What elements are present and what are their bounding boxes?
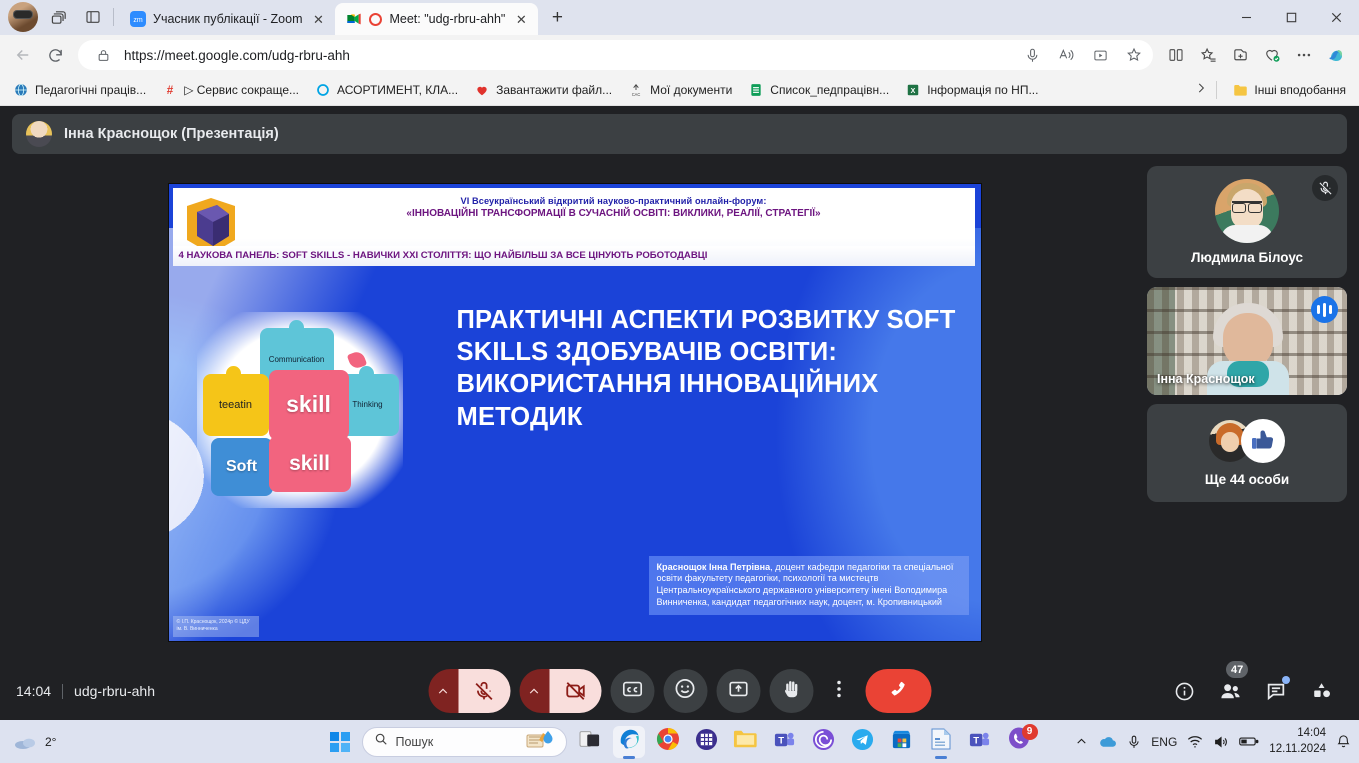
participants-rail: Людмила Білоус [1147,164,1347,660]
other-favorites-label: Інші вподобання [1254,83,1346,97]
onedrive-icon[interactable] [1098,735,1117,749]
center-controls [428,669,931,713]
panel-line-3: 4 НАУКОВА ПАНЕЛЬ: SOFT SKILLS - НАВИЧКИ … [173,250,708,261]
meeting-info: 14:04 udg-rbru-ahh [16,683,155,699]
chrome-icon [656,727,680,756]
bookmark-label: Інформація по НП... [927,83,1038,97]
profile-avatar[interactable] [8,2,38,32]
more-vertical-icon [837,679,842,704]
bell-icon[interactable] [1336,734,1351,749]
slide-title: ПРАКТИЧНІ АСПЕКТИ РОЗВИТКУ SOFT SKILLS З… [457,304,961,434]
bookmark-label: Педагогічні праців... [35,83,146,97]
presentation-slide: VI Всеукраїнський відкритий науково-прак… [169,184,981,641]
avatar [1215,179,1279,243]
svg-text:CAC: CAC [632,92,641,97]
google-meet-app: Інна Краснощок (Презентація) [0,106,1359,720]
present-button[interactable] [716,669,760,713]
reactions-button[interactable] [663,669,707,713]
bookmark-item[interactable]: Завантажити файл... [467,79,619,101]
collections-icon[interactable] [1225,40,1255,70]
more-participants-tile[interactable]: Ще 44 особи [1147,404,1347,502]
puzzle-label: skill [286,391,331,418]
svg-text:#: # [167,84,174,97]
browser-tab-zoom[interactable]: zm Учасник публікації - Zoom ✕ [119,3,335,35]
document-icon [930,727,952,756]
sheets-green-icon [748,82,764,98]
hangup-icon [885,676,911,707]
edge-icon [616,726,642,757]
speaker-name: Краснощок Інна Петрівна [657,562,771,572]
present-screen-icon [727,678,749,705]
bookmark-label: АСОРТИМЕНТ, КЛА... [337,83,458,97]
bookmark-item[interactable]: X Інформація по НП... [898,79,1045,101]
puzzle-piece-skill-bottom: skill [269,436,351,492]
language-indicator[interactable]: ENG [1151,735,1177,749]
browser-window: zm Учасник публікації - Zoom ✕ Meet: "ud… [0,0,1359,720]
heart-red-icon [474,82,490,98]
forum-line-1: VI Всеукраїнський відкритий науково-прак… [253,195,975,207]
bookmarks-divider [1216,81,1217,99]
close-icon[interactable]: ✕ [309,10,327,28]
puzzle-label: teeatin [219,399,252,411]
bookmarks-overflow: Інші вподобання [1194,79,1353,101]
presenter-name: Інна Краснощок (Презентація) [64,126,279,142]
favorite-star-icon[interactable] [1121,42,1147,68]
slide-copyright: © І.П. Краснощок, 2024р © ЦДУ ім. В. Вин… [173,616,259,637]
meeting-time: 14:04 [16,683,51,699]
captions-button[interactable] [610,669,654,713]
meeting-code: udg-rbru-ahh [74,683,155,699]
right-controls: 47 [1163,670,1343,712]
swirl-icon [812,728,835,756]
windows-taskbar: 2° Пошук [0,720,1359,763]
taskbar-app-store[interactable] [886,726,918,758]
other-favorites-button[interactable]: Інші вподобання [1225,79,1353,101]
clock-time: 14:04 [1269,726,1326,742]
mic-off-icon [1312,175,1338,201]
chat-button[interactable] [1255,670,1297,712]
tab-divider [113,8,114,26]
speaking-indicator-icon [1311,296,1338,323]
cac-icon: CAC [628,82,644,98]
clock-date: 12.11.2024 [1269,742,1326,758]
soft-skills-puzzle-image: Communication teeatin Thinking skill [197,312,403,508]
google-meet-icon [346,11,362,27]
participant-name: Інна Краснощок [1157,372,1255,386]
puzzle-piece-creating: teeatin [203,374,269,436]
bookmark-label: ▷ Сервис сокраще... [184,83,299,97]
settings-more-icon[interactable] [1289,40,1319,70]
microphone-icon[interactable] [1127,735,1141,749]
lock-icon [90,42,116,68]
start-button[interactable] [325,727,355,757]
hash-red-icon: # [162,82,178,98]
tab-strip: zm Учасник публікації - Zoom ✕ Meet: "ud… [0,0,1359,35]
svg-text:T: T [778,735,784,746]
people-button[interactable]: 47 [1209,670,1251,712]
grid-purple-icon [695,728,718,756]
bookmark-item[interactable]: Список_педпрацівн... [741,79,896,101]
maximize-button[interactable] [1269,0,1314,35]
taskbar-app-teams-2[interactable]: T [964,726,996,758]
back-icon[interactable] [8,40,38,70]
viber-badge: 9 [1022,724,1038,740]
presenter-banner: Інна Краснощок (Презентація) [12,114,1347,154]
mic-off-icon[interactable] [458,669,510,713]
taskbar-app-document[interactable] [925,726,957,758]
chevron-right-icon[interactable] [1194,81,1208,100]
teams-icon: T [773,728,796,756]
telegram-icon [851,728,874,756]
bookmark-label: Завантажити файл... [496,83,612,97]
chevron-up-icon[interactable] [1075,735,1088,748]
presentation-area[interactable]: VI Всеукраїнський відкритий науково-прак… [12,164,1137,660]
weather-widget[interactable]: 2° [0,734,190,750]
puzzle-piece-skill-top: skill [269,370,349,440]
more-participants-avatars [1209,419,1285,463]
taskbar-center: Пошук [325,726,1035,758]
raise-hand-button[interactable] [769,669,813,713]
read-aloud-icon[interactable] [1053,42,1079,68]
puzzle-label: skill [289,452,330,476]
participants-count-badge: 47 [1226,661,1248,678]
bookmarks-bar: Педагогічні праців... # ▷ Сервис сокраще… [0,75,1359,106]
taskbar-app-file-explorer[interactable] [730,726,762,758]
leave-call-button[interactable] [865,669,931,713]
taskbar-app-cortana[interactable] [808,726,840,758]
folder-icon [733,728,758,755]
task-view-icon [579,729,601,754]
weather-temperature: 2° [45,735,56,749]
tab-title: Meet: "udg-rbru-ahh" [389,12,505,26]
zoom-icon: zm [130,11,146,27]
meeting-details-button[interactable] [1163,670,1205,712]
wifi-icon[interactable] [1187,735,1203,749]
chat-unread-dot [1282,676,1290,684]
minimize-button[interactable] [1224,0,1269,35]
browser-essentials-icon[interactable] [1257,40,1287,70]
circle-blue-icon [315,82,331,98]
browser-tab-meet[interactable]: Meet: "udg-rbru-ahh" ✕ [335,3,538,35]
battery-icon[interactable] [1239,735,1259,748]
thumbs-up-icon [1241,419,1285,463]
globe-blue-icon [13,82,29,98]
tab-title: Учасник публікації - Zoom [153,12,302,26]
taskbar-app-chrome[interactable] [652,726,684,758]
taskbar-app-telegram[interactable] [847,726,879,758]
running-indicator [623,756,635,759]
address-bar[interactable]: https://meet.google.com/udg-rbru-ahh [78,40,1153,70]
reload-icon[interactable] [40,40,70,70]
copilot-icon[interactable] [1321,40,1351,70]
puzzle-label: Soft [226,458,257,476]
bookmark-item[interactable]: # ▷ Сервис сокраще... [155,79,306,101]
participant-name: Людмила Білоус [1191,250,1303,265]
teams-icon: T [968,728,991,756]
speaker-info-box: Краснощок Інна Петрівна, доцент кафедри … [649,556,969,615]
microphone-icon[interactable] [1019,42,1045,68]
tab-actions-icon[interactable] [78,2,108,32]
window-controls [1224,0,1359,35]
puzzle-piece-soft: Soft [211,438,273,496]
volume-icon[interactable] [1213,735,1229,749]
favorites-list-icon[interactable] [1193,40,1223,70]
store-icon [890,728,913,756]
workspaces-icon[interactable] [44,2,74,32]
svg-text:zm: zm [133,17,143,24]
svg-text:T: T [973,735,979,746]
taskbar-app-edge[interactable] [613,726,645,758]
microphone-button[interactable] [428,669,510,713]
media-cast-icon[interactable] [1087,42,1113,68]
meeting-stage: VI Всеукраїнський відкритий науково-прак… [12,164,1347,660]
presenter-avatar [26,121,52,147]
taskbar-app-grid-purple[interactable] [691,726,723,758]
puzzle-label: Communication [269,355,325,364]
running-indicator [935,756,947,759]
puzzle-label: Thinking [352,400,382,409]
meeting-controls-bar: 14:04 udg-rbru-ahh [0,662,1359,720]
excel-icon: X [905,82,921,98]
taskbar-app-teams[interactable]: T [769,726,801,758]
navigation-bar: https://meet.google.com/udg-rbru-ahh [0,35,1359,75]
video-off-icon[interactable] [549,669,601,713]
search-illustration-icon [526,728,558,755]
bookmark-item[interactable]: CAC Мої документи [621,79,739,101]
more-options-button[interactable] [822,669,856,713]
new-tab-button[interactable]: + [543,4,571,32]
taskbar-clock[interactable]: 14:04 12.11.2024 [1269,726,1326,757]
taskbar-app-viber[interactable]: 9 [1003,726,1035,758]
emoji-smile-icon [674,677,697,705]
slide-panel-bar: 4 НАУКОВА ПАНЕЛЬ: SOFT SKILLS - НАВИЧКИ … [173,246,975,266]
participant-tile-lyudmyla[interactable]: Людмила Білоус [1147,166,1347,278]
bookmark-label: Мої документи [650,83,732,97]
taskbar-app-task-view[interactable] [574,726,606,758]
forum-line-2: «ІННОВАЦІЙНІ ТРАНСФОРМАЦІЇ В СУЧАСНІЙ ОС… [253,207,975,222]
search-placeholder: Пошук [396,735,518,749]
more-participants-label: Ще 44 особи [1205,472,1289,487]
search-icon [374,732,388,751]
search-input[interactable]: Пошук [362,727,567,757]
cloud-icon [14,734,40,750]
bookmark-label: Список_педпрацівн... [770,83,889,97]
raise-hand-icon [780,678,802,705]
close-window-button[interactable] [1314,0,1359,35]
chevron-up-icon[interactable] [428,669,458,713]
bookmark-item[interactable]: Педагогічні праців... [6,79,153,101]
chevron-up-icon[interactable] [519,669,549,713]
closed-captions-icon [621,678,643,705]
folder-icon [1232,82,1248,98]
activities-button[interactable] [1301,670,1343,712]
close-icon[interactable]: ✕ [512,10,530,28]
svg-text:X: X [911,88,916,95]
participant-tile-inna[interactable]: Інна Краснощок [1147,287,1347,395]
recording-indicator-icon [369,13,382,26]
url-text: https://meet.google.com/udg-rbru-ahh [124,48,1011,63]
split-screen-icon[interactable] [1161,40,1191,70]
bookmark-item[interactable]: АСОРТИМЕНТ, КЛА... [308,79,465,101]
camera-button[interactable] [519,669,601,713]
system-tray: ENG 14:04 12.11.2024 [1075,726,1351,757]
